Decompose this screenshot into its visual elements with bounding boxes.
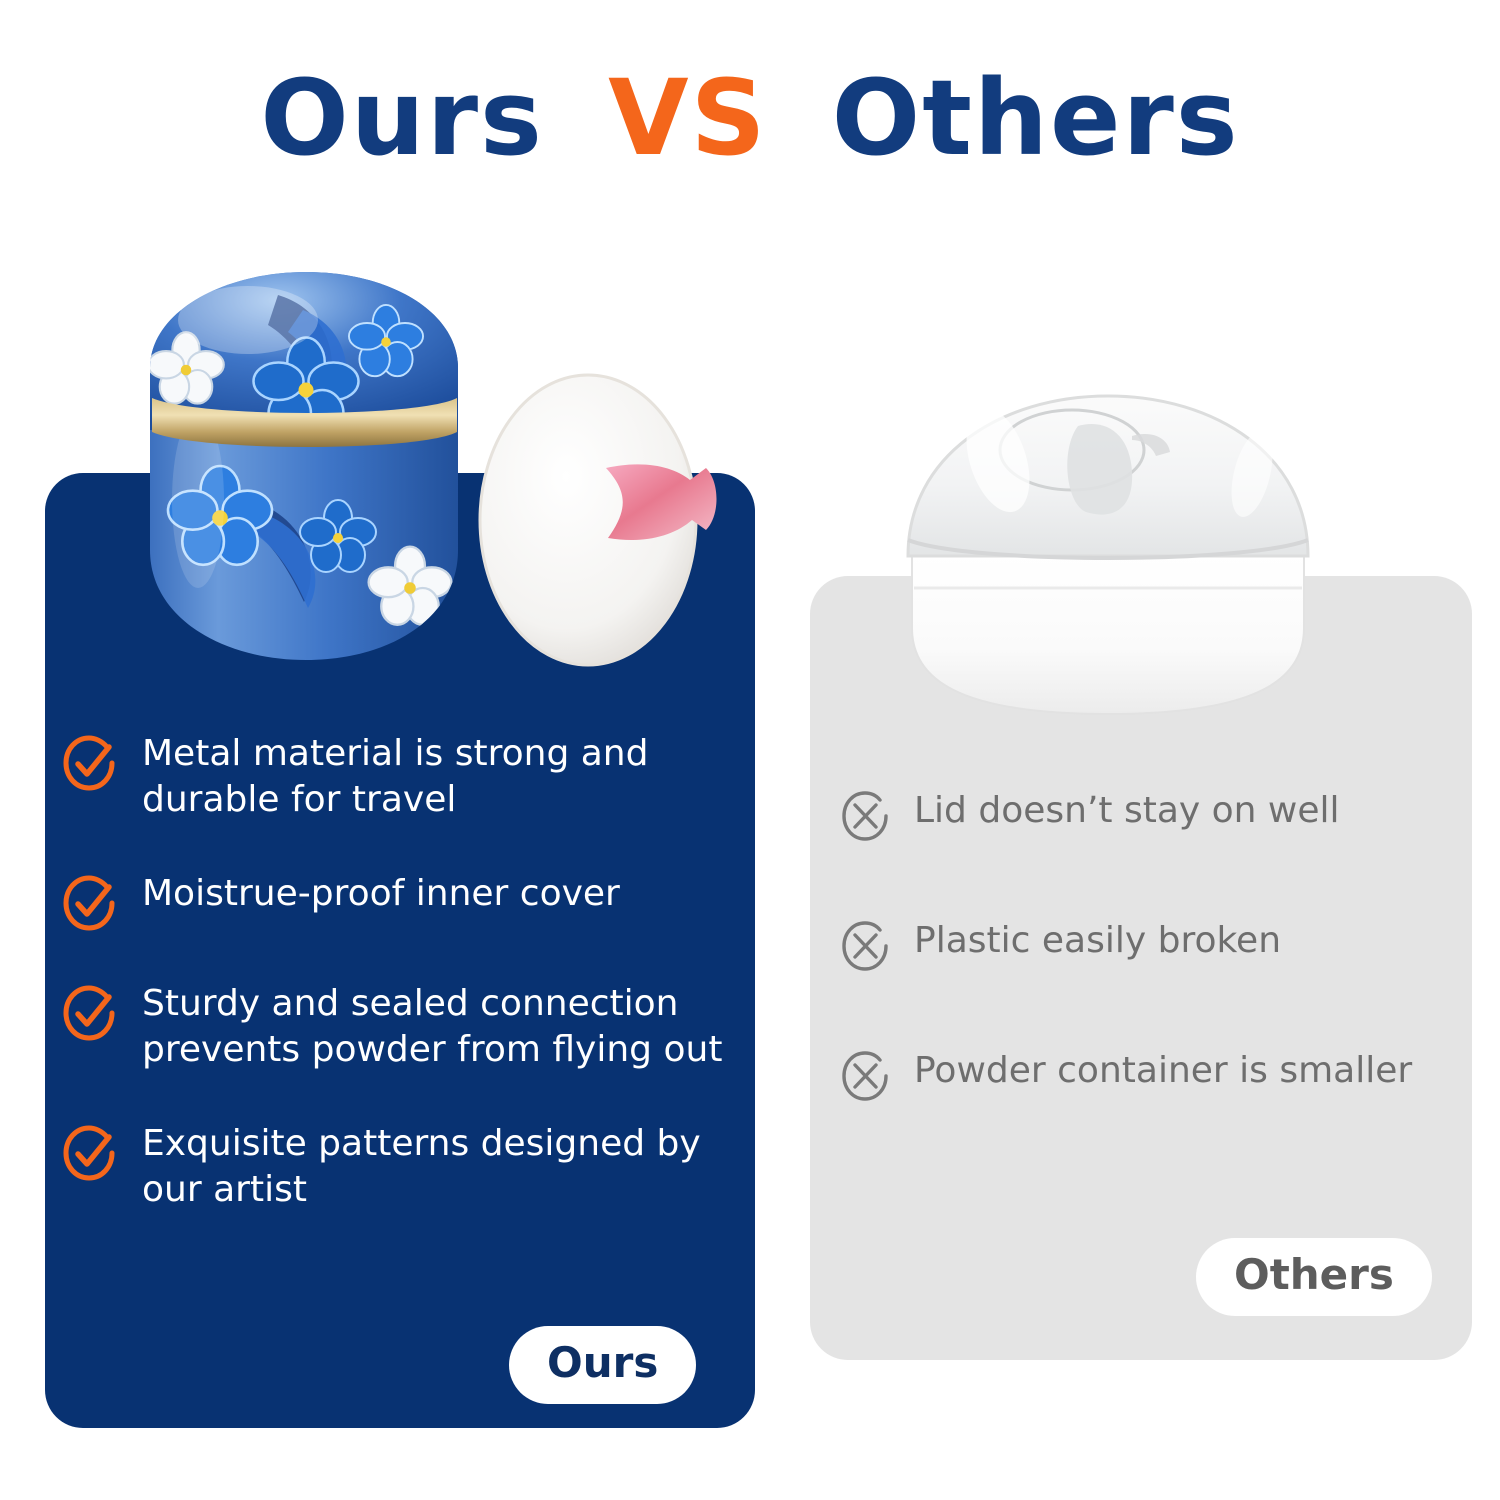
- check-circle-icon: [62, 1125, 120, 1183]
- list-item: Metal material is strong and durable for…: [62, 735, 752, 823]
- list-item-label: Exquisite patterns designed by our artis…: [142, 1121, 752, 1213]
- list-item-label: Metal material is strong and durable for…: [142, 731, 752, 823]
- list-item-label: Moistrue-proof inner cover: [142, 871, 620, 917]
- title-vs-word: VS: [608, 57, 767, 179]
- page-title: Ours VS Others: [0, 64, 1500, 173]
- ours-feature-list: Metal material is strong and durable for…: [62, 735, 752, 1265]
- list-item: Powder container is smaller: [840, 1050, 1460, 1102]
- check-circle-icon: [62, 985, 120, 1043]
- list-item-label: Powder container is smaller: [914, 1048, 1412, 1094]
- x-circle-icon: [840, 920, 892, 972]
- others-feature-list: Lid doesn’t stay on well Plastic easily …: [840, 790, 1460, 1180]
- title-others-word: Others: [832, 57, 1240, 179]
- list-item: Sturdy and sealed connection prevents po…: [62, 985, 752, 1073]
- list-item: Plastic easily broken: [840, 920, 1460, 972]
- list-item: Moistrue-proof inner cover: [62, 875, 752, 933]
- ours-badge: Ours: [509, 1326, 696, 1404]
- comparison-infographic: Ours VS Others: [0, 0, 1500, 1500]
- list-item: Lid doesn’t stay on well: [840, 790, 1460, 842]
- x-circle-icon: [840, 1050, 892, 1102]
- ours-product-image: [128, 250, 728, 690]
- list-item-label: Sturdy and sealed connection prevents po…: [142, 981, 752, 1073]
- others-badge: Others: [1196, 1238, 1432, 1316]
- list-item-label: Lid doesn’t stay on well: [914, 788, 1340, 834]
- title-ours-word: Ours: [260, 57, 544, 179]
- list-item-label: Plastic easily broken: [914, 918, 1281, 964]
- list-item: Exquisite patterns designed by our artis…: [62, 1125, 752, 1213]
- check-circle-icon: [62, 875, 120, 933]
- check-circle-icon: [62, 735, 120, 793]
- others-product-image: [880, 378, 1336, 738]
- x-circle-icon: [840, 790, 892, 842]
